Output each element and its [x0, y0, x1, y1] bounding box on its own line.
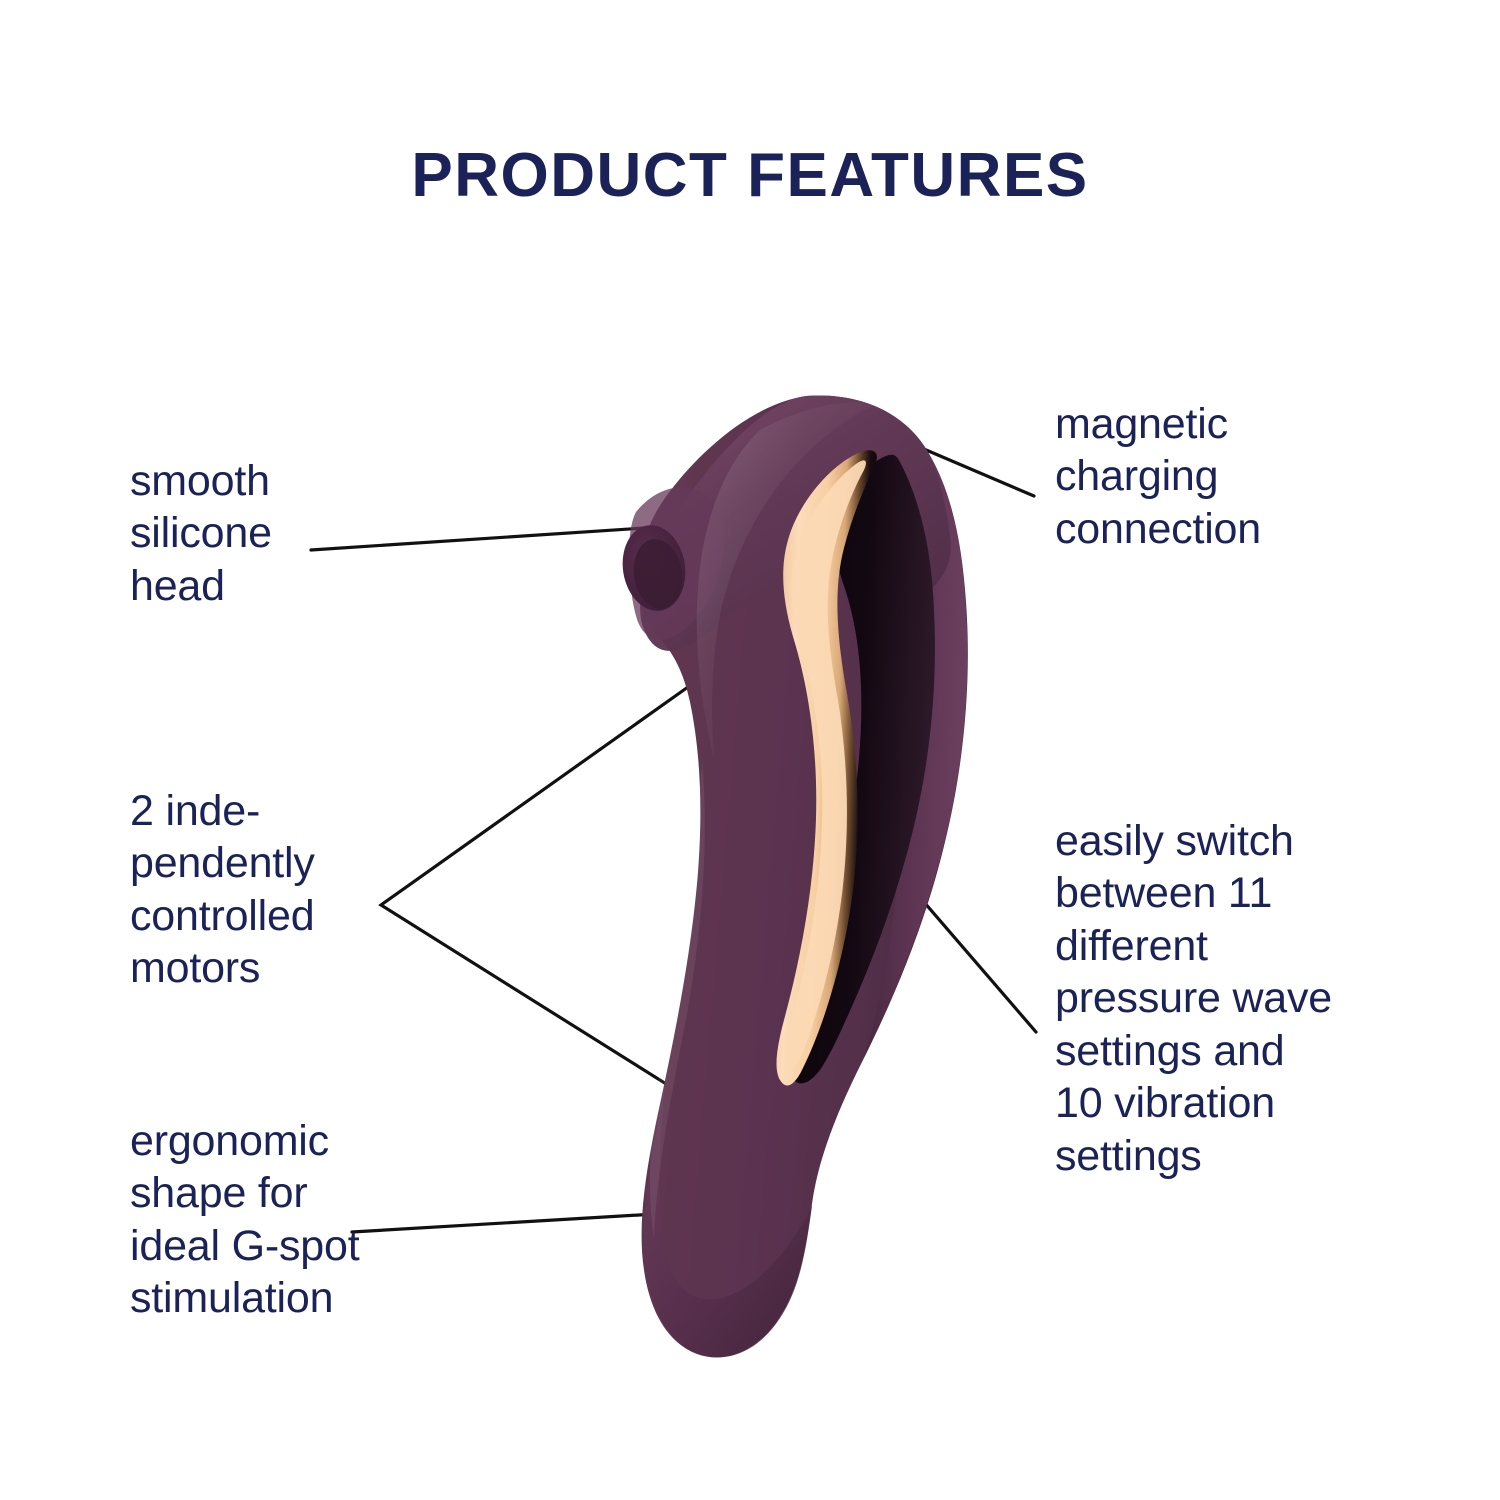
page-title: PRODUCT FEATURES: [0, 140, 1500, 211]
device-suction-nozzle: [629, 487, 724, 640]
leader-line-magnetic-charging: [898, 438, 1034, 496]
device-silicone-body: [638, 396, 968, 1358]
suction-hole-inner-shadow: [629, 536, 687, 613]
device-face-sheen: [697, 402, 876, 758]
callout-pressure-wave-and-vibration-settings: easily switch between 11 different press…: [1055, 815, 1395, 1182]
suction-hole: [617, 521, 692, 616]
device-body-group: [617, 396, 968, 1358]
callout-magnetic-charging-connection: magnetic charging connection: [1055, 398, 1385, 555]
product-features-infographic: PRODUCT FEATURES: [0, 0, 1500, 1500]
device-head-dome: [640, 396, 964, 651]
device-body-sheen-lower: [650, 760, 705, 1238]
device-gold-accent-strip: [777, 450, 877, 1085]
device-right-rim: [864, 456, 967, 1058]
callout-independently-controlled-motors: 2 inde- pendently controlled motors: [130, 785, 460, 995]
leader-line-settings: [861, 829, 1036, 1032]
callout-smooth-silicone-head: smooth silicone head: [130, 455, 460, 612]
device-gold-highlight: [786, 460, 866, 1067]
callout-ergonomic-shape: ergonomic shape for ideal G-spot stimula…: [130, 1115, 470, 1325]
device-inset-channel: [787, 455, 935, 1084]
device-lower-tip: [644, 1090, 812, 1357]
